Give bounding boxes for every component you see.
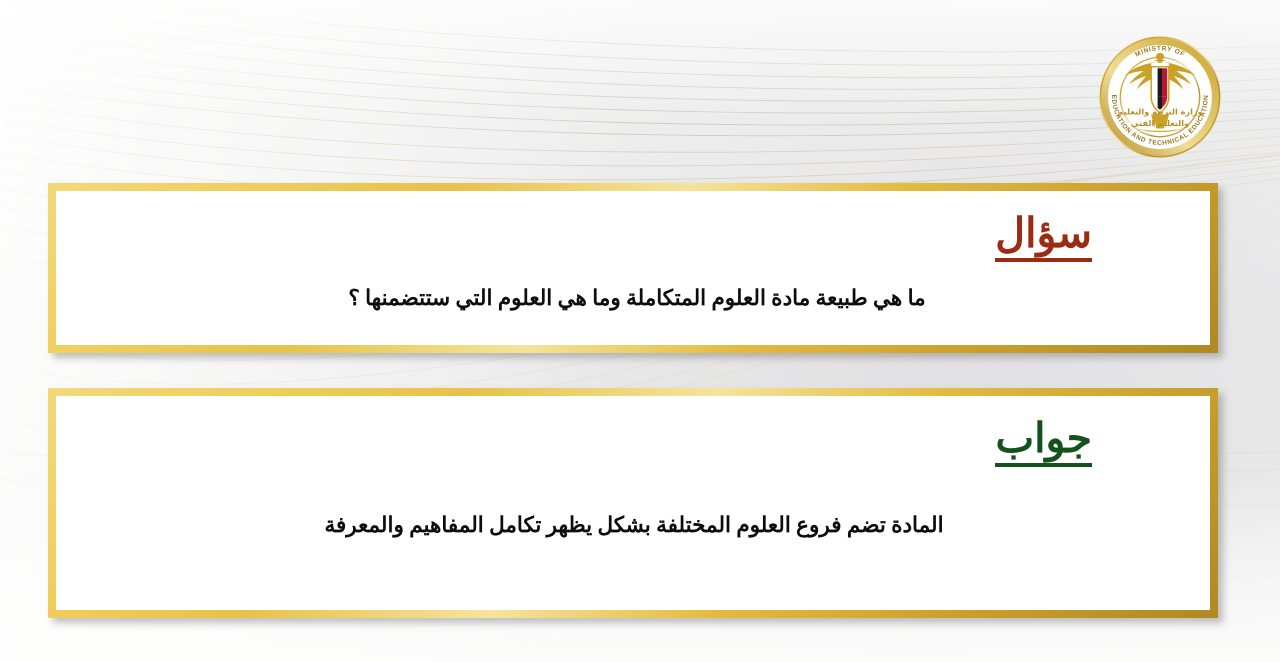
answer-heading: جواب	[995, 414, 1092, 467]
question-card: سؤال ما هي طبيعة مادة العلوم المتكاملة و…	[48, 183, 1218, 353]
answer-card: جواب المادة تضم فروع العلوم المختلفة بشك…	[48, 388, 1218, 618]
background-top-wash	[0, 0, 1280, 120]
answer-card-body: جواب المادة تضم فروع العلوم المختلفة بشك…	[56, 396, 1210, 610]
question-card-body: سؤال ما هي طبيعة مادة العلوم المتكاملة و…	[56, 191, 1210, 345]
slide-canvas: MINISTRY OF EDUCATION AND TECHNICAL EDUC…	[0, 0, 1280, 662]
answer-heading-row: جواب	[96, 406, 1170, 467]
question-heading-row: سؤال	[96, 201, 1170, 262]
svg-text:والتعليم الفني: والتعليم الفني	[1131, 118, 1189, 129]
svg-text:وزارة التربية والتعليم: وزارة التربية والتعليم	[1117, 107, 1202, 118]
answer-card-inner: جواب المادة تضم فروع العلوم المختلفة بشك…	[56, 396, 1210, 610]
ministry-logo-icon: MINISTRY OF EDUCATION AND TECHNICAL EDUC…	[1097, 34, 1223, 160]
question-heading: سؤال	[995, 209, 1092, 262]
question-card-inner: سؤال ما هي طبيعة مادة العلوم المتكاملة و…	[56, 191, 1210, 345]
answer-text: المادة تضم فروع العلوم المختلفة بشكل يظه…	[96, 509, 1170, 541]
question-text: ما هي طبيعة مادة العلوم المتكاملة وما هي…	[96, 282, 1170, 314]
